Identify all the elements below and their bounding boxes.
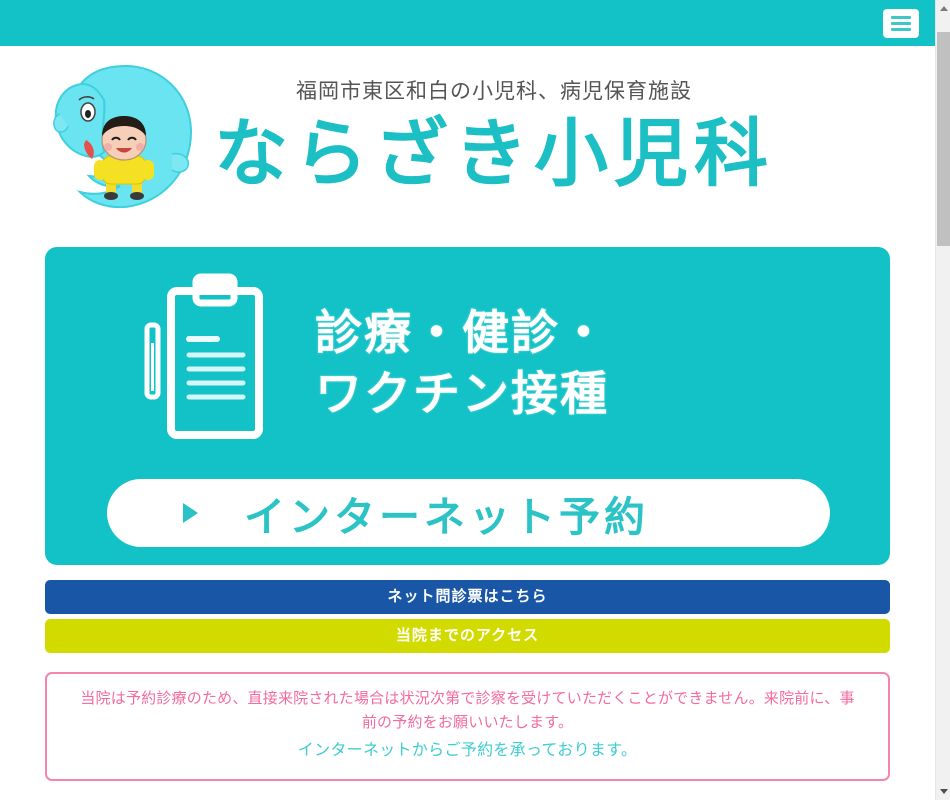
notice-line-2: 前の予約をお願いいたします。 [61, 711, 874, 735]
notice-line-1: 当院は予約診療のため、直接来院された場合は状況次第で診察を受けていただくことがで… [61, 687, 874, 711]
scroll-down-caret [940, 789, 948, 794]
hamburger-bar-1 [891, 16, 911, 19]
page-scrollbar[interactable] [935, 0, 950, 800]
internet-reservation-label: インターネット予約 [244, 483, 649, 543]
clinic-access-button[interactable]: 当院までのアクセス [45, 619, 890, 653]
banner-top-row: 診療・健診・ ワクチン接種 [45, 247, 890, 453]
hamburger-bar-3 [891, 28, 911, 31]
site-top-bar [0, 0, 935, 46]
clipboard-with-pen-icon [141, 273, 267, 453]
brand-text: 福岡市東区和白の小児科、病児保育施設 ならざき小児科 [214, 79, 774, 195]
scrollbar-thumb[interactable] [937, 32, 950, 246]
browser-viewport: 福岡市東区和白の小児科、病児保育施設 ならざき小児科 [0, 0, 950, 800]
reservation-notice-box: 当院は予約診療のため、直接来院された場合は状況次第で診察を受けていただくことがで… [45, 672, 890, 781]
hamburger-menu-button[interactable] [883, 9, 919, 38]
notice-line-3: インターネットからご予約を承っております。 [61, 738, 874, 764]
banner-headline-line2: ワクチン接種 [315, 363, 609, 424]
scroll-up-icon[interactable] [936, 0, 950, 17]
clinic-name: ならざき小児科 [214, 111, 774, 196]
banner-headline-line1: 診療・健診・ [315, 302, 609, 363]
internet-reservation-button[interactable]: インターネット予約 [107, 479, 830, 547]
elephant-with-child-icon [48, 60, 198, 215]
site-tagline: 福岡市東区和白の小児科、病児保育施設 [296, 79, 692, 104]
play-triangle-icon [183, 503, 198, 523]
scroll-up-caret [940, 6, 948, 11]
site-header: 福岡市東区和白の小児科、病児保育施設 ならざき小児科 [0, 46, 935, 225]
page-content: 福岡市東区和白の小児科、病児保育施設 ならざき小児科 [0, 46, 935, 800]
internet-reservation-banner[interactable]: 診療・健診・ ワクチン接種 インターネット予約 [45, 247, 890, 565]
scroll-down-icon[interactable] [936, 783, 950, 800]
banner-headline: 診療・健診・ ワクチン接種 [315, 302, 609, 424]
hamburger-bar-2 [891, 22, 911, 25]
site-logo[interactable]: 福岡市東区和白の小児科、病児保育施設 ならざき小児科 [48, 60, 774, 215]
net-questionnaire-button[interactable]: ネット問診票はこちら [45, 580, 890, 614]
